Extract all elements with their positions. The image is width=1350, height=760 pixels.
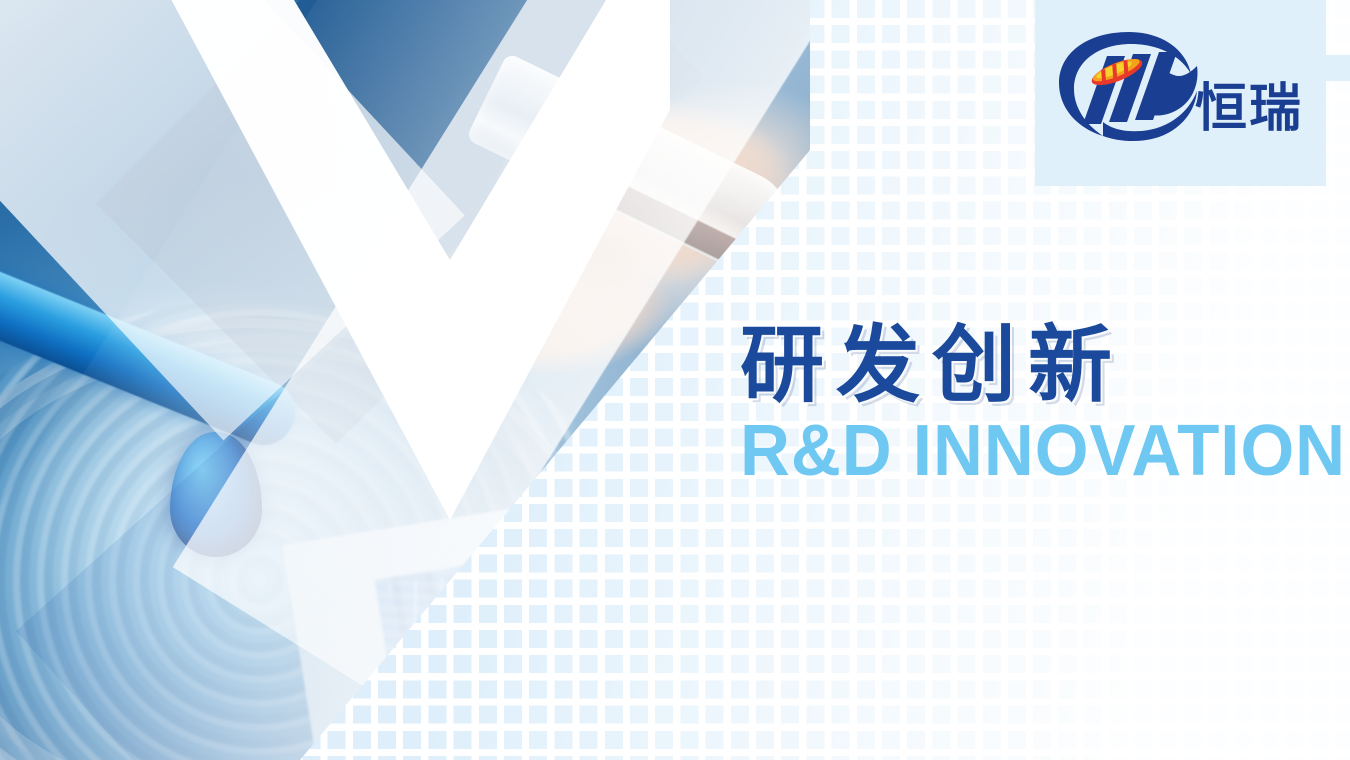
logo-company-name: 恒瑞 — [1195, 83, 1303, 135]
logo-panel-step — [1326, 55, 1350, 81]
company-logo[interactable]: 恒瑞 — [1055, 28, 1315, 158]
headline-chinese: 研发创新 — [740, 322, 1340, 409]
hengrui-logo-mark-icon — [1055, 28, 1205, 146]
rd-innovation-banner: 恒瑞 研发创新 R&D INNOVATION — [0, 0, 1350, 760]
headline-english: R&D INNOVATION — [740, 415, 1316, 487]
headline-block: 研发创新 R&D INNOVATION — [740, 322, 1340, 487]
